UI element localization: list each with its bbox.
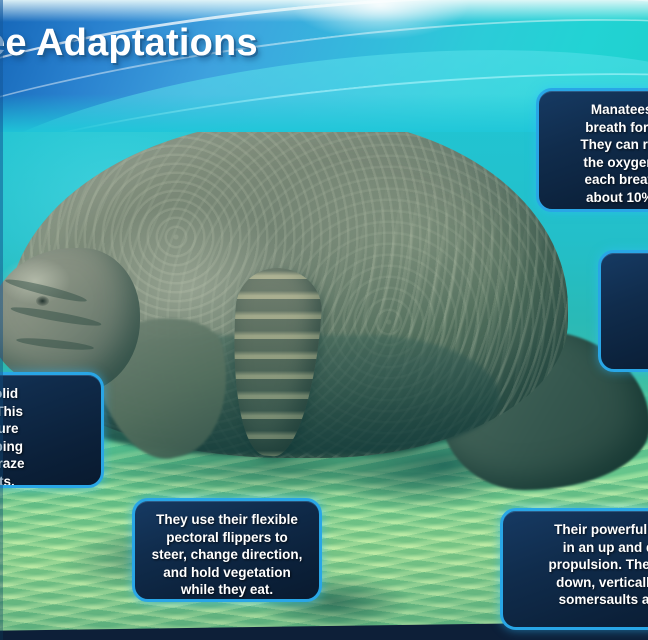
callout-breath: Manatees ca breath for up t They can ren… bbox=[536, 88, 648, 212]
callout-ribs: ve solid ribs. This tructure t, helping … bbox=[0, 372, 104, 488]
slide-title: ee Adaptations bbox=[0, 22, 258, 65]
callout-heart: A m beats minute when dur 8- bbox=[598, 250, 648, 372]
manatee-eye bbox=[36, 296, 49, 306]
photo-left-edge bbox=[0, 0, 3, 640]
callout-flippers: They use their flexible pectoral flipper… bbox=[132, 498, 322, 602]
callout-tail: Their powerful tail pa in an up and down… bbox=[500, 508, 648, 630]
slide-screenshot: ee Adaptations Manatees ca breath for up… bbox=[0, 0, 648, 640]
